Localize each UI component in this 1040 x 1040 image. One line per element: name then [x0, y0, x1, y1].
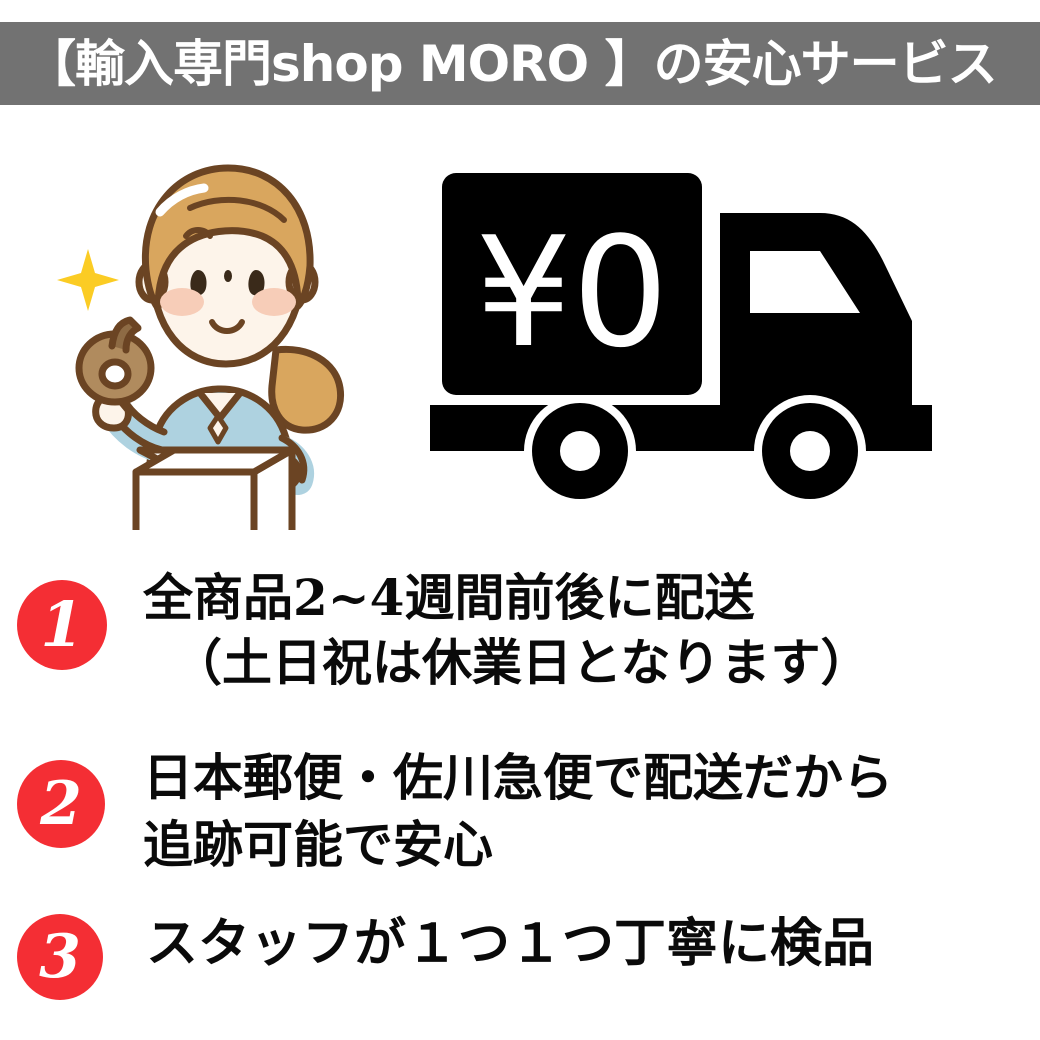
feature-badge-2: 2 — [17, 760, 105, 848]
feature-1-line-2: （土日祝は休業日となります） — [172, 638, 871, 688]
ponytail — [272, 349, 341, 430]
feature-1-line-1: 全商品2~4週間前後に配送 — [143, 573, 754, 623]
feature-2-line-2: 追跡可能で安心 — [143, 820, 493, 870]
woman-packing-illustration — [40, 150, 400, 530]
front-wheel-hub — [790, 431, 830, 471]
promo-banner-page: 【輸入専門shop MORO 】の安心サービス — [0, 0, 1040, 1040]
woman-packing-illustration-svg — [40, 150, 400, 530]
box-front — [136, 472, 254, 530]
free-shipping-truck: ¥0 — [420, 155, 1020, 515]
cheek-right — [252, 288, 296, 316]
free-shipping-label: ¥0 — [475, 204, 668, 381]
rear-wheel-hub — [560, 431, 600, 471]
sparkle-icon — [57, 249, 119, 311]
feature-2-line-1: 日本郵便・佐川急便で配送だから — [143, 753, 893, 803]
tape-roll-hole — [102, 362, 128, 386]
nose — [224, 270, 232, 282]
page-title: 【輸入専門shop MORO 】の安心サービス — [26, 39, 997, 89]
feature-3-line-1: スタッフが１つ１つ丁寧に検品 — [146, 918, 874, 970]
feature-badge-3: 3 — [17, 914, 103, 1000]
cheek-left — [160, 288, 204, 316]
header-banner: 【輸入専門shop MORO 】の安心サービス — [0, 22, 1040, 105]
free-shipping-truck-svg: ¥0 — [420, 155, 1020, 515]
feature-badge-1: 1 — [17, 580, 107, 670]
